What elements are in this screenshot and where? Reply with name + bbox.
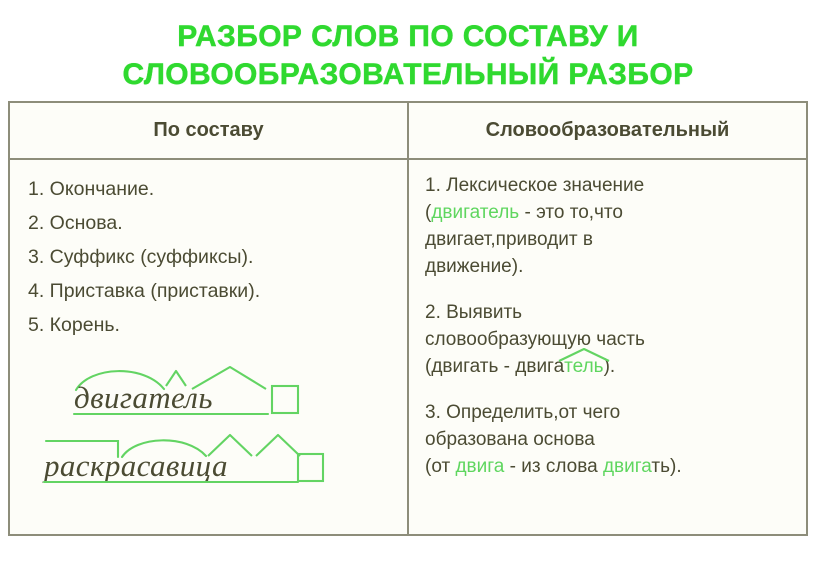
step-line: (двигать - двига xyxy=(425,356,564,377)
page-title: РАЗБОР СЛОВ ПО СОСТАВУ И СЛОВООБРАЗОВАТЕ… xyxy=(0,18,816,94)
zero-ending-box-icon xyxy=(272,386,298,413)
page-title-line-2: СЛОВООБРАЗОВАТЕЛЬНЫЙ РАЗБОР xyxy=(0,56,816,94)
word-analysis-diagram-raskrasavica: раскрасавица xyxy=(40,424,340,491)
derivation-steps-list: 1. Лексическое значение (двигатель - это… xyxy=(409,160,806,480)
highlighted-word: двига xyxy=(603,456,651,477)
step-line: 3. Определить,от чего xyxy=(425,402,620,423)
highlighted-suffix-with-hat: тель xyxy=(564,353,603,380)
list-item: 5. Корень. xyxy=(28,308,407,342)
morpheme-diagrams: двигатель xyxy=(28,356,407,496)
table-header-cell-left: По составу xyxy=(10,103,409,158)
word-analysis-diagram-dvigatel: двигатель xyxy=(70,356,310,423)
step-line: двигает,приводит в xyxy=(425,229,593,250)
derivation-step-derivational-part: 2. Выявить словообразующую часть (двигат… xyxy=(425,299,796,380)
step-line: ть). xyxy=(651,456,681,477)
list-item: 1. Окончание. xyxy=(28,172,407,206)
suffix-hat-icon xyxy=(256,435,300,456)
ending-box-icon xyxy=(298,454,323,481)
step-line: 1. Лексическое значение xyxy=(425,175,644,196)
header-label-po-sostavu: По составу xyxy=(10,103,407,158)
derivation-step-derivation-source: 3. Определить,от чего образована основа … xyxy=(425,399,796,480)
table-cell-po-sostavu: 1. Окончание. 2. Основа. 3. Суффикс (суф… xyxy=(10,160,409,534)
table-cell-slovoobrazovatelnyy: 1. Лексическое значение (двигатель - это… xyxy=(409,160,806,534)
step-line: - из слова xyxy=(504,456,603,477)
morpheme-order-list: 1. Окончание. 2. Основа. 3. Суффикс (суф… xyxy=(10,160,407,496)
step-line: образована основа xyxy=(425,429,595,450)
header-label-slovoobrazovatelnyy: Словообразовательный xyxy=(409,103,806,158)
table-header-row: По составу Словообразовательный xyxy=(10,103,806,160)
comparison-table: По составу Словообразовательный 1. Оконч… xyxy=(8,101,808,536)
table-header-cell-right: Словообразовательный xyxy=(409,103,806,158)
step-line: словообразующую часть xyxy=(425,329,645,350)
derivation-step-lexical-meaning: 1. Лексическое значение (двигатель - это… xyxy=(425,172,796,280)
list-item: 2. Основа. xyxy=(28,206,407,240)
step-line: (от xyxy=(425,456,455,477)
list-item: 4. Приставка (приставки). xyxy=(28,274,407,308)
suffix-hat-icon xyxy=(557,344,611,371)
diagram-word-text: двигатель xyxy=(74,380,213,415)
table-body-row: 1. Окончание. 2. Основа. 3. Суффикс (суф… xyxy=(10,160,806,534)
step-line: 2. Выявить xyxy=(425,302,522,323)
highlighted-word: двига xyxy=(455,456,504,477)
step-line: движение). xyxy=(425,256,523,277)
page-title-line-1: РАЗБОР СЛОВ ПО СОСТАВУ И xyxy=(0,18,816,56)
highlighted-word: двигатель xyxy=(431,202,519,223)
step-line: - это то,что xyxy=(519,202,623,223)
list-item: 3. Суффикс (суффиксы). xyxy=(28,240,407,274)
diagram-word-text: раскрасавица xyxy=(42,448,228,483)
